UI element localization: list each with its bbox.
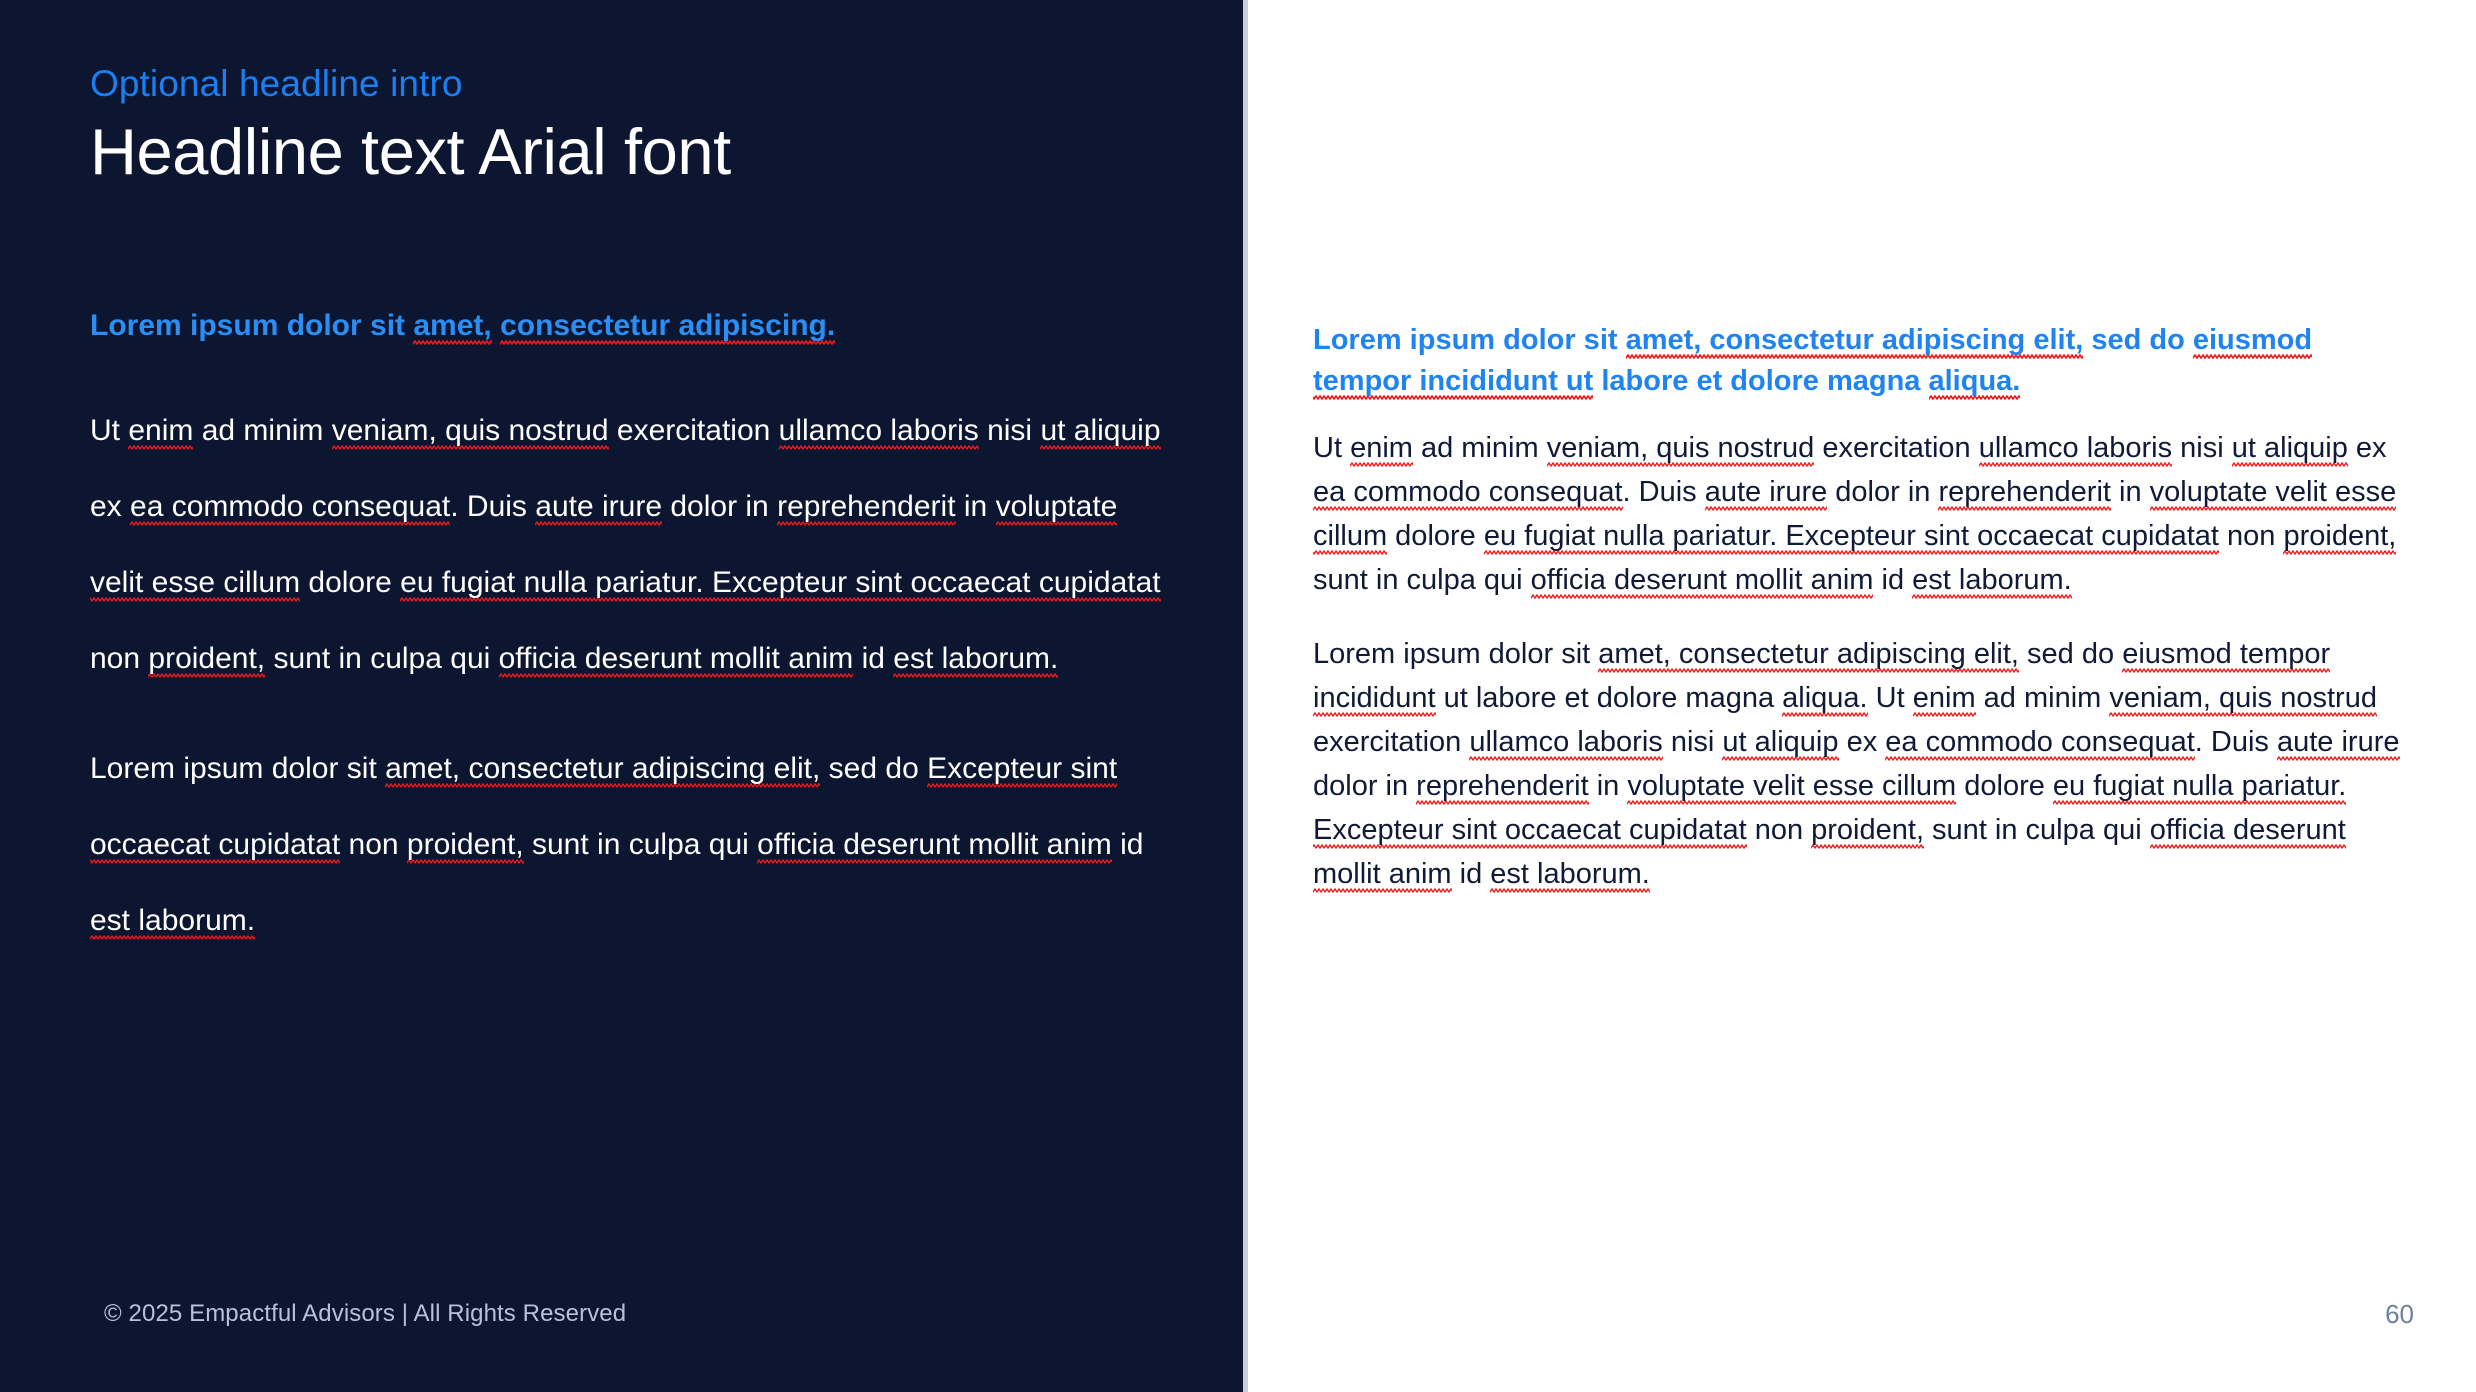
misspelled-run: ullamco laboris <box>1469 726 1662 761</box>
misspelled-run: officia deserunt mollit anim <box>1531 564 1874 599</box>
misspelled-run: est laborum. <box>893 642 1058 678</box>
text-run: non <box>2219 520 2284 552</box>
text-run: Lorem ipsum dolor sit <box>1313 638 1598 670</box>
misspelled-run: aliqua. <box>1782 682 1867 717</box>
misspelled-run: ea commodo consequat <box>130 490 450 526</box>
text-run: id <box>853 642 893 675</box>
text-run: nisi <box>1663 726 1723 758</box>
misspelled-run: enim <box>128 414 193 450</box>
left-lead-misspelled-1: amet, <box>413 309 491 345</box>
text-run: Ut <box>1313 432 1350 464</box>
misspelled-run: est laborum. <box>1490 858 1650 893</box>
text-run: non <box>90 642 148 675</box>
text-run: exercitation <box>609 414 779 447</box>
text-run: . Duis <box>1623 476 1705 508</box>
text-run: id <box>1873 564 1912 596</box>
text-run: Ut <box>90 414 128 447</box>
misspelled-run: proident, <box>148 642 265 678</box>
text-run: sed do <box>2083 324 2193 356</box>
misspelled-run: reprehenderit <box>1416 770 1589 805</box>
page-number: 60 <box>2385 1299 2414 1330</box>
text-run: in <box>2111 476 2150 508</box>
misspelled-run: amet, consectetur adipiscing elit, <box>1626 324 2084 359</box>
left-body-paragraph-2: Lorem ipsum dolor sit amet, consectetur … <box>90 731 1175 959</box>
misspelled-run: veniam, quis nostrud <box>332 414 609 450</box>
misspelled-run: reprehenderit <box>1938 476 2111 511</box>
panel-divider <box>1243 0 1248 1392</box>
left-lead-plain-1: Lorem ipsum dolor sit <box>90 309 413 342</box>
text-run: sunt in culpa qui <box>524 828 757 861</box>
right-text-column: Lorem ipsum dolor sit amet, consectetur … <box>1313 320 2408 896</box>
misspelled-run: voluptate velit esse cillum <box>1627 770 1956 805</box>
text-run: in <box>956 490 996 523</box>
text-run: sunt in culpa qui <box>265 642 498 675</box>
misspelled-run: aliqua. <box>1929 365 2021 400</box>
slide-canvas: Optional headline intro Headline text Ar… <box>0 0 2476 1392</box>
text-run: sunt in culpa qui <box>1313 564 1531 596</box>
text-run: ad minim <box>1413 432 1547 464</box>
text-run: ex <box>2348 432 2387 464</box>
headline-block: Optional headline intro Headline text Ar… <box>90 62 1170 188</box>
left-body-paragraph-1: Ut enim ad minim veniam, quis nostrud ex… <box>90 393 1175 697</box>
text-run: non <box>340 828 407 861</box>
text-run: ex <box>90 490 130 523</box>
misspelled-run: ut aliquip <box>1040 414 1160 450</box>
text-run: Ut <box>1868 682 1913 714</box>
headline-intro: Optional headline intro <box>90 62 1170 106</box>
text-run: id <box>1112 828 1144 861</box>
misspelled-run: proident, <box>2283 520 2396 555</box>
misspelled-run: officia deserunt mollit anim <box>757 828 1112 864</box>
text-run: Lorem ipsum dolor sit <box>1313 324 1626 356</box>
left-text-column: Lorem ipsum dolor sit amet, consectetur … <box>90 307 1175 959</box>
right-lead-paragraph: Lorem ipsum dolor sit amet, consectetur … <box>1313 320 2408 402</box>
misspelled-run: enim <box>1913 682 1976 717</box>
misspelled-run: veniam, quis nostrud <box>2109 682 2377 717</box>
right-body-paragraph-2: Lorem ipsum dolor sit amet, consectetur … <box>1313 632 2408 896</box>
text-run: . Duis <box>450 490 535 523</box>
text-run: sed do <box>820 752 927 785</box>
text-run: labore et dolore magna <box>1593 365 1928 397</box>
text-run: dolore <box>1387 520 1484 552</box>
text-run: dolor in <box>1313 770 1416 802</box>
text-run: id <box>1452 858 1491 890</box>
text-run: in <box>1589 770 1628 802</box>
misspelled-run: eu fugiat nulla pariatur. Excepteur sint… <box>1484 520 2219 555</box>
misspelled-run: ut aliquip <box>2232 432 2348 467</box>
misspelled-run: enim <box>1350 432 1413 467</box>
page-title: Headline text Arial font <box>90 116 1170 189</box>
misspelled-run: proident, <box>407 828 524 864</box>
text-run: sunt in culpa qui <box>1924 814 2150 846</box>
misspelled-run: est laborum. <box>1912 564 2072 599</box>
right-body-paragraph-1: Ut enim ad minim veniam, quis nostrud ex… <box>1313 426 2408 602</box>
text-run: dolore <box>300 566 400 599</box>
text-run: non <box>1747 814 1812 846</box>
misspelled-run: ea commodo consequat <box>1313 476 1623 511</box>
text-run: sed do <box>2019 638 2122 670</box>
left-lead-paragraph: Lorem ipsum dolor sit amet, consectetur … <box>90 307 1175 345</box>
misspelled-run: est laborum. <box>90 904 255 940</box>
misspelled-run: veniam, quis nostrud <box>1547 432 1815 467</box>
text-run: exercitation <box>1814 432 1978 464</box>
text-run: nisi <box>2172 432 2232 464</box>
left-lead-plain-2 <box>492 309 500 342</box>
misspelled-run: reprehenderit <box>777 490 955 526</box>
misspelled-run: proident, <box>1811 814 1924 849</box>
text-run: dolore <box>1956 770 2053 802</box>
misspelled-run: ea commodo consequat <box>1885 726 2195 761</box>
text-run: Lorem ipsum dolor sit <box>90 752 385 785</box>
text-run: ad minim <box>1976 682 2110 714</box>
misspelled-run: aute irure <box>2277 726 2400 761</box>
misspelled-run: ut aliquip <box>1722 726 1838 761</box>
text-run: ex <box>1839 726 1886 758</box>
text-run: dolor in <box>662 490 777 523</box>
text-run: exercitation <box>1313 726 1469 758</box>
text-run: ut labore et dolore magna <box>1436 682 1783 714</box>
footer-copyright: © 2025 Empactful Advisors | All Rights R… <box>104 1300 626 1329</box>
misspelled-run: ullamco laboris <box>779 414 979 450</box>
misspelled-run: aute irure <box>1705 476 1828 511</box>
misspelled-run: ullamco laboris <box>1979 432 2172 467</box>
misspelled-run: amet, consectetur adipiscing elit, <box>385 752 820 788</box>
misspelled-run: aute irure <box>535 490 662 526</box>
text-run: dolor in <box>1827 476 1938 508</box>
left-lead-misspelled-2: consectetur adipiscing. <box>500 309 835 345</box>
text-run: . Duis <box>2195 726 2277 758</box>
misspelled-run: eu fugiat nulla pariatur. Excepteur sint… <box>400 566 1160 602</box>
text-run: nisi <box>979 414 1041 447</box>
misspelled-run: amet, consectetur adipiscing elit, <box>1598 638 2019 673</box>
text-run: ad minim <box>193 414 331 447</box>
misspelled-run: officia deserunt mollit anim <box>499 642 854 678</box>
